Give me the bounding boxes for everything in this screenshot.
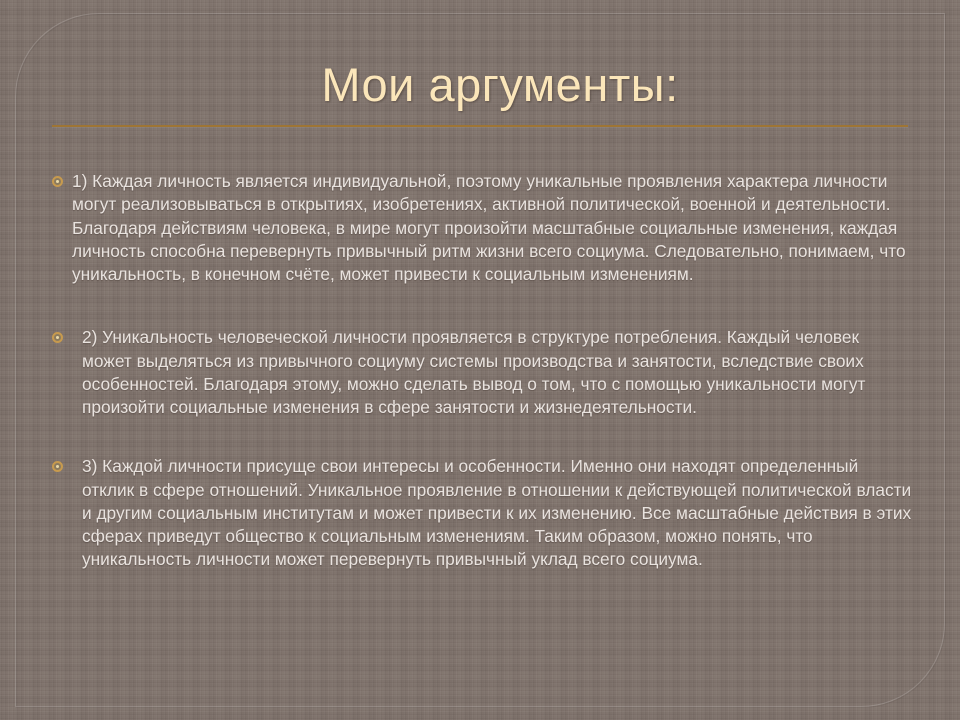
- title-underline-rule: [52, 125, 908, 127]
- ring-bullet-icon: [52, 176, 63, 187]
- presentation-slide: Мои аргументы: 1) Каждая личность являет…: [0, 0, 960, 720]
- bullet-item-3-text: 3) Каждой личности присуще свои интересы…: [82, 455, 912, 571]
- title-block: Мои аргументы:: [52, 60, 908, 127]
- bullet-item-1: 1) Каждая личность является индивидуальн…: [52, 170, 912, 286]
- bullet-item-2: 2) Уникальность человеческой личности пр…: [52, 326, 912, 419]
- bullet-item-1-text: 1) Каждая личность является индивидуальн…: [72, 170, 912, 286]
- bullet-item-3: 3) Каждой личности присуще свои интересы…: [52, 455, 912, 571]
- slide-body: 1) Каждая личность является индивидуальн…: [52, 170, 912, 572]
- page-title: Мои аргументы:: [52, 60, 908, 111]
- ring-bullet-icon: [52, 332, 63, 343]
- ring-bullet-icon: [52, 461, 63, 472]
- bullet-item-2-text: 2) Уникальность человеческой личности пр…: [82, 326, 912, 419]
